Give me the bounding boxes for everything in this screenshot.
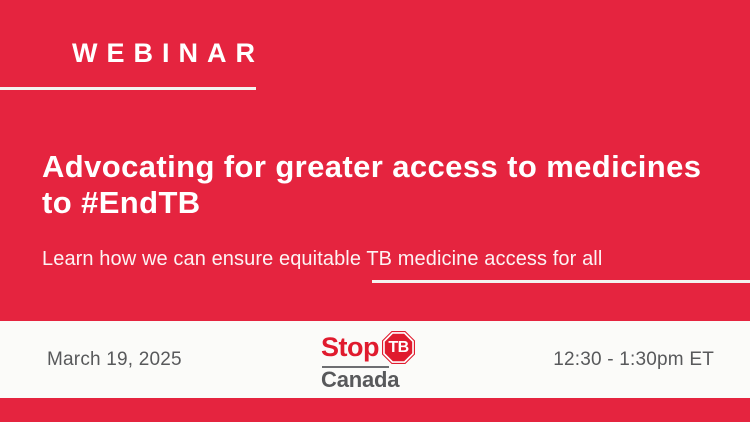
logo-badge-tb: TB <box>382 331 415 364</box>
logo-primary-row: Stop TB <box>321 331 415 365</box>
subtitle-text: Learn how we can ensure equitable TB med… <box>42 246 742 272</box>
event-time: 12:30 - 1:30pm ET <box>553 349 714 371</box>
stop-tb-canada-logo: Stop TB Canada <box>321 331 429 389</box>
bottom-accent-strip <box>0 398 750 422</box>
divider-rule-bottom <box>372 280 750 283</box>
logo-wordmark-stop: Stop <box>321 334 379 361</box>
footer-bar: March 19, 2025 Stop TB Canada 12:30 - 1:… <box>0 321 750 398</box>
eyebrow-label: WEBINAR <box>72 38 264 68</box>
page-title: Advocating for greater access to medicin… <box>42 149 732 221</box>
divider-rule-top <box>0 87 256 90</box>
webinar-promo-poster: WEBINAR Advocating for greater access to… <box>0 0 750 422</box>
event-date: March 19, 2025 <box>47 349 182 371</box>
poster-content: WEBINAR Advocating for greater access to… <box>0 0 750 321</box>
logo-submark-canada: Canada <box>321 368 399 392</box>
stop-sign-octagon-icon: TB <box>382 331 415 364</box>
